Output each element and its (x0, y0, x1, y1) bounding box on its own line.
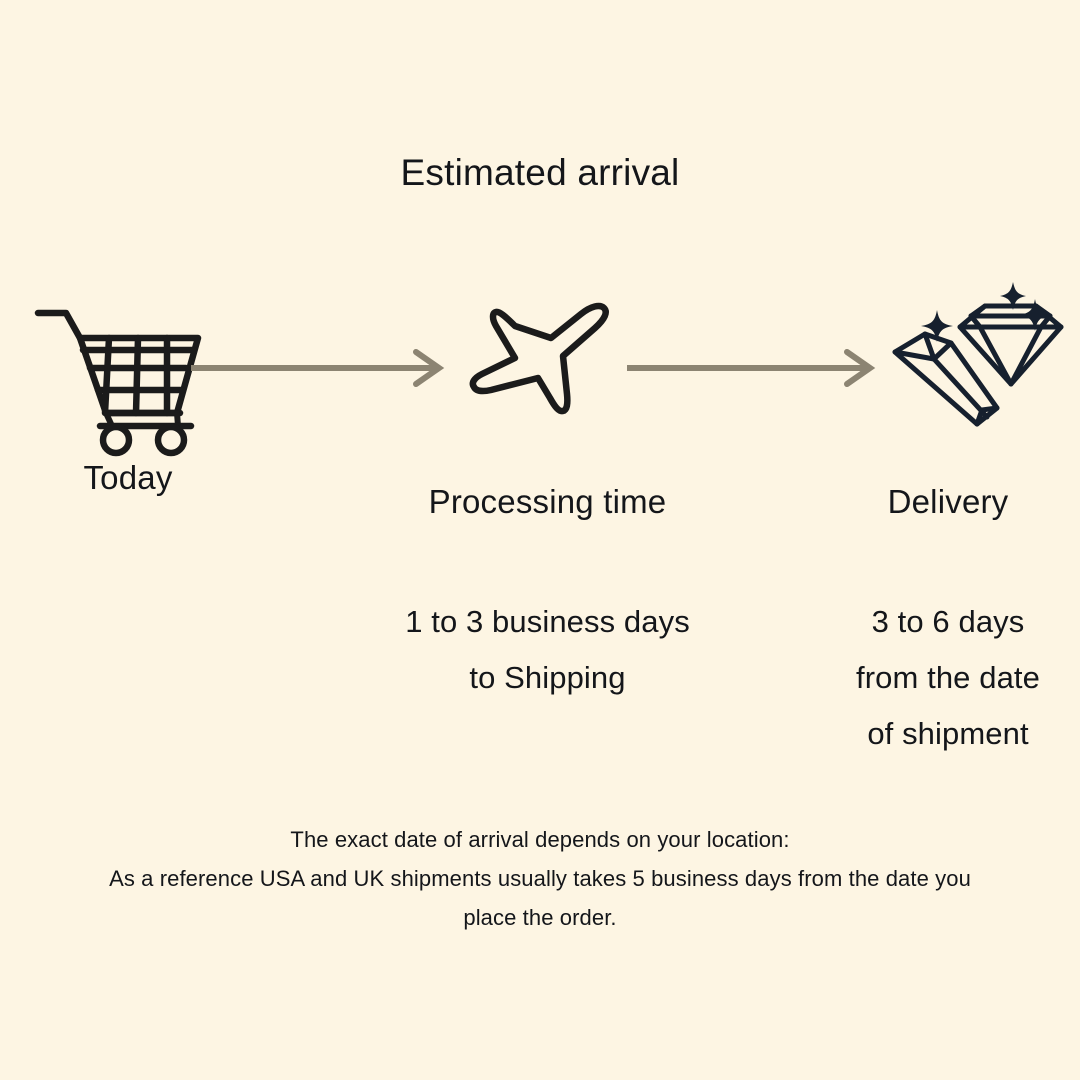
detail-processing: 1 to 3 business days to Shipping (325, 594, 770, 706)
footnote-line-3: place the order. (0, 898, 1080, 937)
arrow-right-icon (192, 348, 447, 388)
footnote: The exact date of arrival depends on you… (0, 820, 1080, 937)
diamond-gems-icon (885, 280, 1065, 430)
detail-line: 3 to 6 days (805, 594, 1080, 650)
diamond (960, 306, 1061, 384)
detail-line: from the date (805, 650, 1080, 706)
timeline-icon-row (0, 280, 1080, 430)
detail-delivery: 3 to 6 days from the date of shipment (805, 594, 1080, 762)
detail-line: of shipment (805, 706, 1080, 762)
detail-line: 1 to 3 business days (325, 594, 770, 650)
footnote-line-1: The exact date of arrival depends on you… (0, 820, 1080, 859)
estimated-arrival-infographic: Estimated arrival (0, 0, 1080, 1080)
stage-label-delivery: Delivery (800, 483, 1080, 521)
crystal-point (895, 334, 997, 424)
stage-label-processing: Processing time (340, 483, 755, 521)
stage-label-today: Today (0, 459, 256, 497)
detail-line: to Shipping (325, 650, 770, 706)
arrow-right-icon (628, 348, 878, 388)
page-title: Estimated arrival (0, 152, 1080, 194)
footnote-line-2: As a reference USA and UK shipments usua… (0, 859, 1080, 898)
airplane-icon (455, 280, 645, 430)
